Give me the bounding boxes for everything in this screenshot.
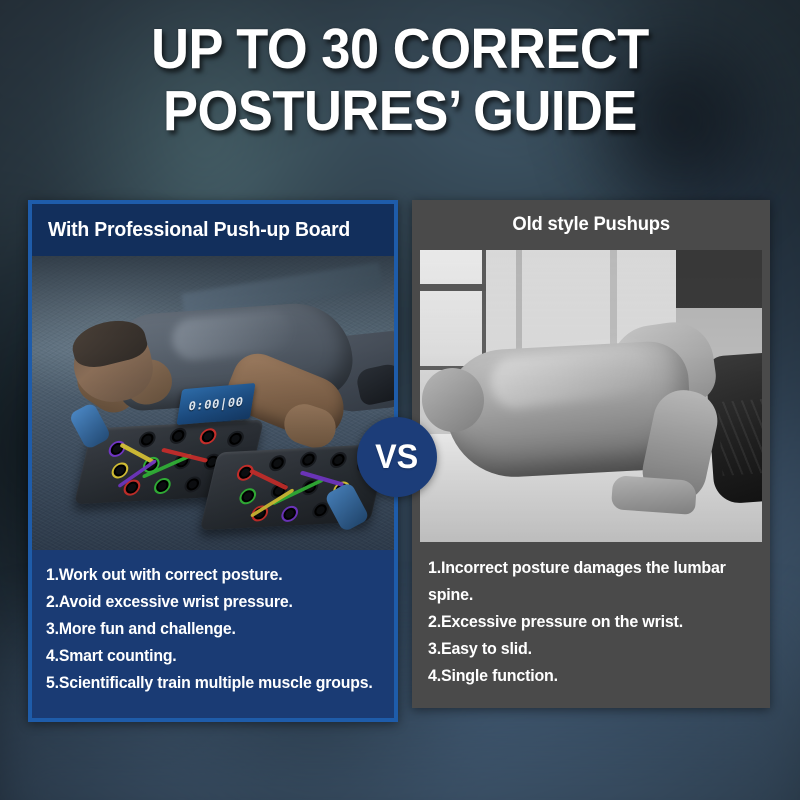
right-panel-drawback-list: 1.Incorrect posture damages the lumbar s… <box>412 542 770 700</box>
left-panel-benefit-list: 1.Work out with correct posture. 2.Avoid… <box>32 550 394 707</box>
right-photo-shade <box>420 250 762 542</box>
left-panel-photo: 0:00|00 <box>32 256 394 550</box>
right-panel-header-label: Old style Pushups <box>512 214 669 236</box>
comparison-panel-right: Old style Pushups 1.Incorrect posture da… <box>412 200 770 708</box>
left-panel-header-label: With Professional Push-up Board <box>48 219 350 242</box>
list-item: 5.Scientifically train multiple muscle g… <box>46 670 372 697</box>
list-item: 2.Avoid excessive wrist pressure. <box>46 589 372 616</box>
list-item: 1.Incorrect posture damages the lumbar s… <box>428 555 748 609</box>
versus-badge: VS <box>357 417 437 497</box>
page-title-line-2: POSTURES’ GUIDE <box>32 80 768 142</box>
list-item: 1.Work out with correct posture. <box>46 562 372 589</box>
list-item: 4.Single function. <box>428 663 748 690</box>
left-panel-header: With Professional Push-up Board <box>32 204 394 256</box>
left-photo-shade <box>32 256 394 550</box>
list-item: 2.Excessive pressure on the wrist. <box>428 609 748 636</box>
list-item: 4.Smart counting. <box>46 643 372 670</box>
page-title-line-1: UP TO 30 CORRECT <box>32 18 768 80</box>
right-panel-header: Old style Pushups <box>412 200 770 250</box>
list-item: 3.Easy to slid. <box>428 636 748 663</box>
list-item: 3.More fun and challenge. <box>46 616 372 643</box>
right-panel-photo <box>420 250 762 542</box>
versus-label: VS <box>375 438 418 477</box>
comparison-panel-left: With Professional Push-up Board <box>28 200 398 722</box>
page-title: UP TO 30 CORRECT POSTURES’ GUIDE <box>32 18 768 142</box>
